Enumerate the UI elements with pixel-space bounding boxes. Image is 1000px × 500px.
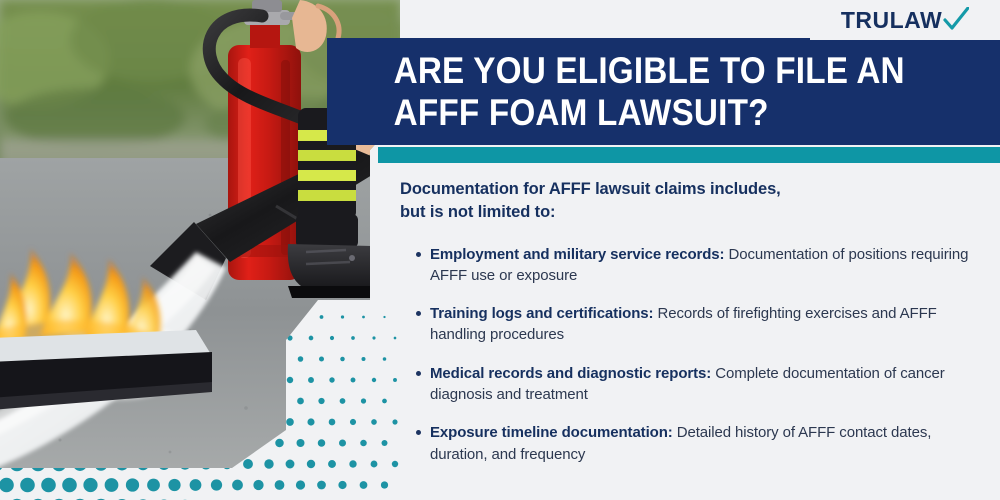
bullet-dot-icon — [416, 311, 421, 316]
brand-logo[interactable]: TRULAW — [810, 0, 1000, 40]
list-item-label: Exposure timeline documentation: — [430, 424, 673, 441]
list-item-label: Training logs and certifications: — [430, 305, 653, 322]
teal-accent-bar — [378, 147, 1000, 163]
list-item: Medical records and diagnostic reports: … — [400, 363, 980, 406]
check-icon — [943, 7, 969, 33]
subheading: Documentation for AFFF lawsuit claims in… — [400, 178, 980, 224]
content-column: Documentation for AFFF lawsuit claims in… — [400, 178, 980, 465]
bullet-dot-icon — [416, 252, 421, 257]
list-item: Employment and military service records:… — [400, 244, 980, 287]
documentation-list: Employment and military service records:… — [400, 244, 980, 465]
bullet-dot-icon — [416, 371, 421, 376]
bullet-dot-icon — [416, 430, 421, 435]
list-item-label: Medical records and diagnostic reports: — [430, 365, 711, 382]
list-item-label: Employment and military service records: — [430, 246, 724, 263]
infographic-canvas: TRULAW Are You Eligible To File An AFFF … — [0, 0, 1000, 500]
logo-wordmark: TRULAW — [841, 9, 942, 32]
headline-banner: Are You Eligible To File An AFFF Foam La… — [327, 38, 1000, 145]
list-item: Exposure timeline documentation: Detaile… — [400, 422, 980, 465]
list-item: Training logs and certifications: Record… — [400, 303, 980, 346]
page-title: Are You Eligible To File An AFFF Foam La… — [327, 50, 933, 133]
